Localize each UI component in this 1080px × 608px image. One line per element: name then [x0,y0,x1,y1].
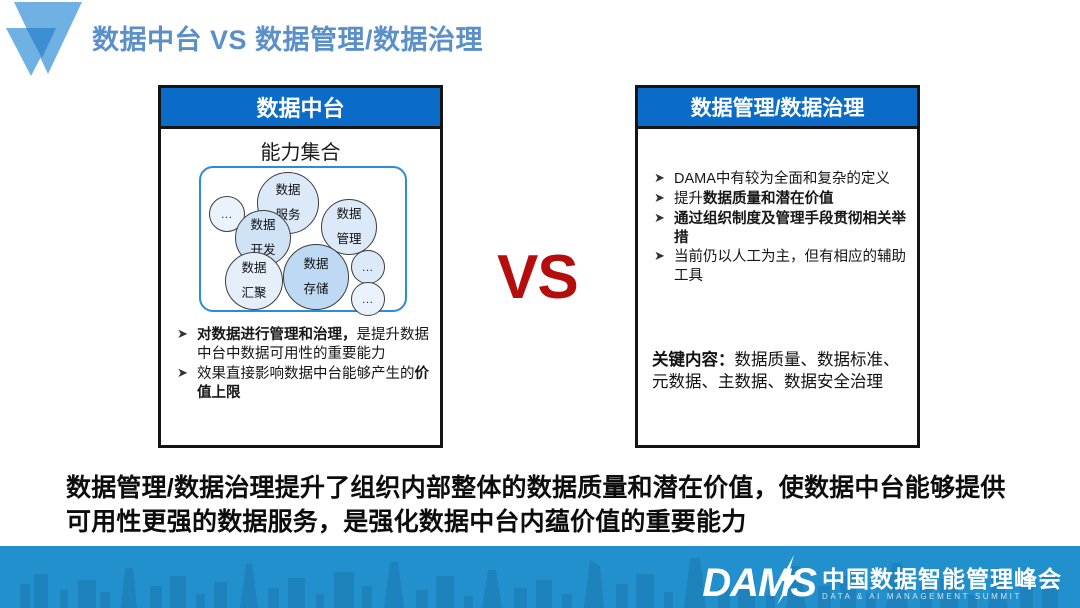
arrow-bullet-icon: ➤ [177,326,188,343]
right-card-data-governance: 数据管理/数据治理 ➤ DAMA中有较为全面和复杂的定义 ➤ 提升数据质量和潜在… [635,85,920,448]
dams-english-name: DATA & AI MANAGEMENT SUMMIT [822,591,1062,602]
ellipsis-bubble-right-bottom: … [351,282,385,316]
key-content-block: 关键内容：数据质量、数据标准、元数据、主数据、数据安全治理 [652,350,907,394]
right-card-bullets: ➤ DAMA中有较为全面和复杂的定义 ➤ 提升数据质量和潜在价值 ➤ 通过组织制… [652,170,907,287]
arrow-bullet-icon: ➤ [654,190,665,207]
list-item-text: DAMA中有较为全面和复杂的定义 [674,171,890,187]
dams-wordmark: DAMS [702,564,816,602]
list-item: ➤ 通过组织制度及管理手段贯彻相关举措 [652,210,907,248]
list-item-text: 通过组织制度及管理手段贯彻相关举措 [674,211,906,246]
arrow-bullet-icon: ➤ [654,210,665,227]
list-item-text: 当前仍以人工为主，但有相应的辅助工具 [674,249,906,284]
vs-divider-label: VS [497,247,578,309]
list-item: ➤ 提升数据质量和潜在价值 [652,190,907,209]
left-card-bullets: ➤ 对数据进行管理和治理，是提升数据中台中数据可用性的重要能力 ➤ 效果直接影响… [175,326,430,403]
summary-text: 数据管理/数据治理提升了组织内部整体的数据质量和潜在价值，使数据中台能够提供可用… [66,472,1026,539]
list-item-text: 效果直接影响数据中台能够产生的价值上限 [197,366,429,401]
left-card-heading: 数据中台 [161,88,440,129]
footer-bar: DAMS 中国数据智能管理峰会 DATA & AI MANAGEMENT SUM… [0,546,1080,608]
dams-subtitle-block: 中国数据智能管理峰会 DATA & AI MANAGEMENT SUMMIT [822,567,1062,602]
data-aggregation-bubble: 数据 汇聚 [225,252,283,310]
left-card-data-midplatform: 数据中台 能力集合 … 数据 服务 数据 管理 数据 开发 数据 [158,85,443,448]
dams-chinese-name: 中国数据智能管理峰会 [822,567,1062,591]
data-storage-bubble: 数据 存储 [283,244,349,310]
slide-canvas: 数据中台 VS 数据管理/数据治理 数据中台 能力集合 … 数据 服务 数据 管… [0,0,1080,608]
arrow-bullet-icon: ➤ [654,170,665,187]
right-card-heading: 数据管理/数据治理 [638,88,917,129]
list-item: ➤ DAMA中有较为全面和复杂的定义 [652,170,907,189]
arrow-bullet-icon: ➤ [177,365,188,382]
list-item-text: 提升数据质量和潜在价值 [674,191,834,207]
w-triangles-logo-icon [6,0,92,76]
capability-set-label: 能力集合 [161,136,440,165]
lightning-bolt-icon [774,555,800,605]
arrow-bullet-icon: ➤ [654,248,665,265]
list-item: ➤ 对数据进行管理和治理，是提升数据中台中数据可用性的重要能力 [175,326,430,364]
dams-brand-lockup: DAMS 中国数据智能管理峰会 DATA & AI MANAGEMENT SUM… [702,550,1062,602]
capability-bubble-diagram: … 数据 服务 数据 管理 数据 开发 数据 存储 数据 [199,166,407,312]
list-item: ➤ 当前仍以人工为主，但有相应的辅助工具 [652,248,907,286]
list-item: ➤ 效果直接影响数据中台能够产生的价值上限 [175,365,430,403]
page-title: 数据中台 VS 数据管理/数据治理 [92,18,483,57]
list-item-text: 对数据进行管理和治理，是提升数据中台中数据可用性的重要能力 [197,327,429,362]
ellipsis-bubble-right-top: … [351,250,385,284]
